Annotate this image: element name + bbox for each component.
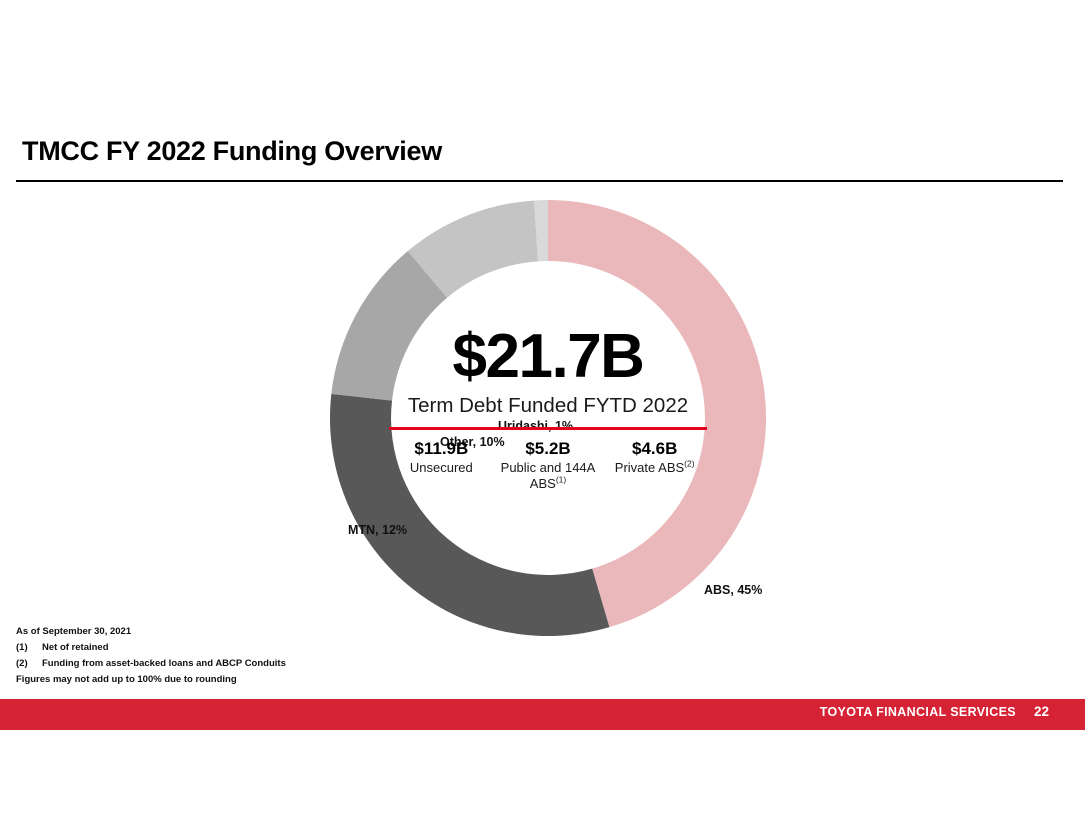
footnote-rounding: Figures may not add up to 100% due to ro…: [16, 675, 286, 685]
center-divider: [389, 427, 707, 430]
footnote-1-marker: (1): [16, 643, 42, 653]
page-title: TMCC FY 2022 Funding Overview: [22, 136, 442, 167]
stat-private-abs-value: $4.6B: [601, 439, 708, 459]
stat-private-abs-label: Private ABS(2): [601, 460, 708, 476]
stat-public-144a-abs-label: Public and 144A ABS(1): [495, 460, 602, 493]
footer-brand: TOYOTA FINANCIAL SERVICES: [820, 705, 1016, 719]
stat-public-144a-abs-label-text: Public and 144A ABS: [501, 460, 596, 491]
stat-unsecured-label-text: Unsecured: [410, 460, 473, 475]
slice-label-global: Global, 31%: [385, 755, 456, 769]
footer-page-number: 22: [1034, 704, 1049, 719]
total-caption: Term Debt Funded FYTD 2022: [378, 394, 718, 418]
stat-public-144a-abs-value: $5.2B: [495, 439, 602, 459]
funding-breakdown-stats: $11.9B Unsecured $5.2B Public and 144A A…: [388, 439, 708, 492]
footnote-rounding-text: Figures may not add up to 100% due to ro…: [16, 675, 237, 685]
footnote-2: (2) Funding from asset-backed loans and …: [16, 659, 286, 669]
stat-private-abs: $4.6B Private ABS(2): [601, 439, 708, 476]
stat-public-144a-abs: $5.2B Public and 144A ABS(1): [495, 439, 602, 492]
footnote-2-marker: (2): [16, 659, 42, 669]
stat-unsecured-label: Unsecured: [388, 460, 495, 476]
stat-public-144a-abs-footnote-ref: (1): [556, 474, 566, 484]
total-amount: $21.7B: [378, 326, 718, 388]
slice-label-abs: ABS, 45%: [704, 583, 762, 597]
title-divider: [16, 180, 1063, 182]
stat-private-abs-label-text: Private ABS: [615, 460, 684, 475]
footnote-as-of: As of September 30, 2021: [16, 627, 286, 637]
footnote-1-text: Net of retained: [42, 643, 109, 653]
footnote-1: (1) Net of retained: [16, 643, 286, 653]
footnote-2-text: Funding from asset-backed loans and ABCP…: [42, 659, 286, 669]
footnotes: As of September 30, 2021 (1) Net of reta…: [16, 627, 286, 691]
footnote-as-of-text: As of September 30, 2021: [16, 627, 131, 637]
stat-unsecured: $11.9B Unsecured: [388, 439, 495, 476]
slice-label-mtn: MTN, 12%: [348, 523, 407, 537]
stat-unsecured-value: $11.9B: [388, 439, 495, 459]
donut-center-summary: $21.7B Term Debt Funded FYTD 2022 $11.9B…: [378, 326, 718, 492]
funding-donut-chart: Uridashi, 1% Other, 10% MTN, 12% Global,…: [320, 198, 776, 638]
stat-private-abs-footnote-ref: (2): [684, 458, 694, 468]
